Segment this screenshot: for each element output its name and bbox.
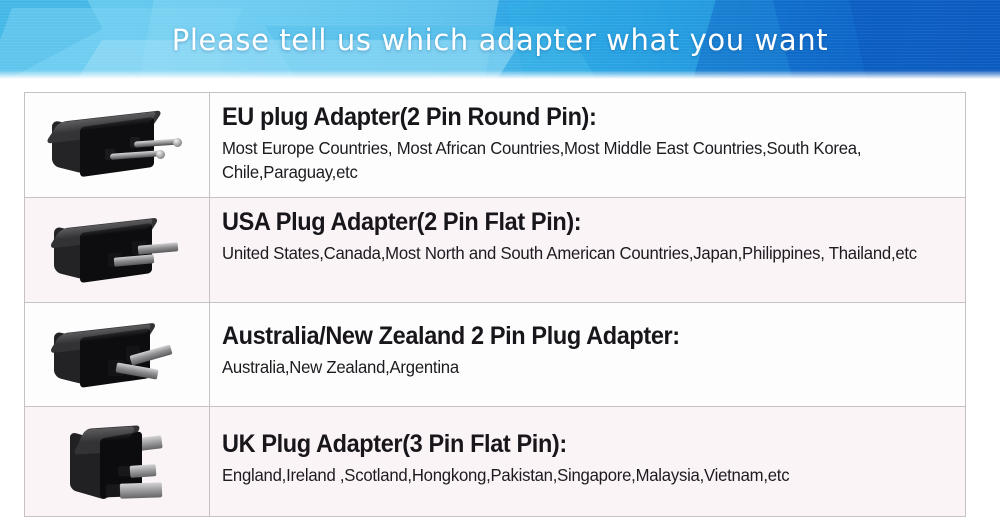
usa-plug-icon	[42, 209, 192, 291]
adapter-image-cell	[25, 198, 210, 302]
table-row: Australia/New Zealand 2 Pin Plug Adapter…	[25, 303, 965, 407]
adapter-text-cell: USA Plug Adapter(2 Pin Flat Pin): United…	[210, 198, 965, 302]
table-row: USA Plug Adapter(2 Pin Flat Pin): United…	[25, 198, 965, 303]
adapter-heading: EU plug Adapter(2 Pin Round Pin):	[222, 102, 911, 133]
adapter-table: EU plug Adapter(2 Pin Round Pin): Most E…	[24, 92, 966, 517]
adapter-description: England,Ireland ,Scotland,Hongkong,Pakis…	[222, 463, 922, 488]
adapter-image-cell	[25, 407, 210, 516]
adapter-description: Most Europe Countries, Most African Coun…	[222, 136, 922, 186]
banner-fade	[0, 70, 1000, 79]
adapter-text-cell: EU plug Adapter(2 Pin Round Pin): Most E…	[210, 93, 965, 197]
table-row: UK Plug Adapter(3 Pin Flat Pin): England…	[25, 407, 965, 517]
adapter-heading: USA Plug Adapter(2 Pin Flat Pin):	[222, 207, 911, 238]
adapter-image-cell	[25, 303, 210, 406]
adapter-image-cell	[25, 93, 210, 197]
adapter-description: United States,Canada,Most North and Sout…	[222, 241, 922, 266]
header-banner: Please tell us which adapter what you wa…	[0, 0, 1000, 79]
uk-plug-icon	[42, 421, 192, 503]
table-row: EU plug Adapter(2 Pin Round Pin): Most E…	[25, 93, 965, 198]
banner-title: Please tell us which adapter what you wa…	[0, 0, 1000, 79]
eu-plug-icon	[42, 104, 192, 186]
adapter-heading: UK Plug Adapter(3 Pin Flat Pin):	[222, 429, 911, 460]
adapter-text-cell: Australia/New Zealand 2 Pin Plug Adapter…	[210, 303, 965, 406]
adapter-heading: Australia/New Zealand 2 Pin Plug Adapter…	[222, 321, 911, 352]
australia-plug-icon	[42, 314, 192, 396]
adapter-description: Australia,New Zealand,Argentina	[222, 355, 922, 380]
adapter-text-cell: UK Plug Adapter(3 Pin Flat Pin): England…	[210, 407, 965, 516]
